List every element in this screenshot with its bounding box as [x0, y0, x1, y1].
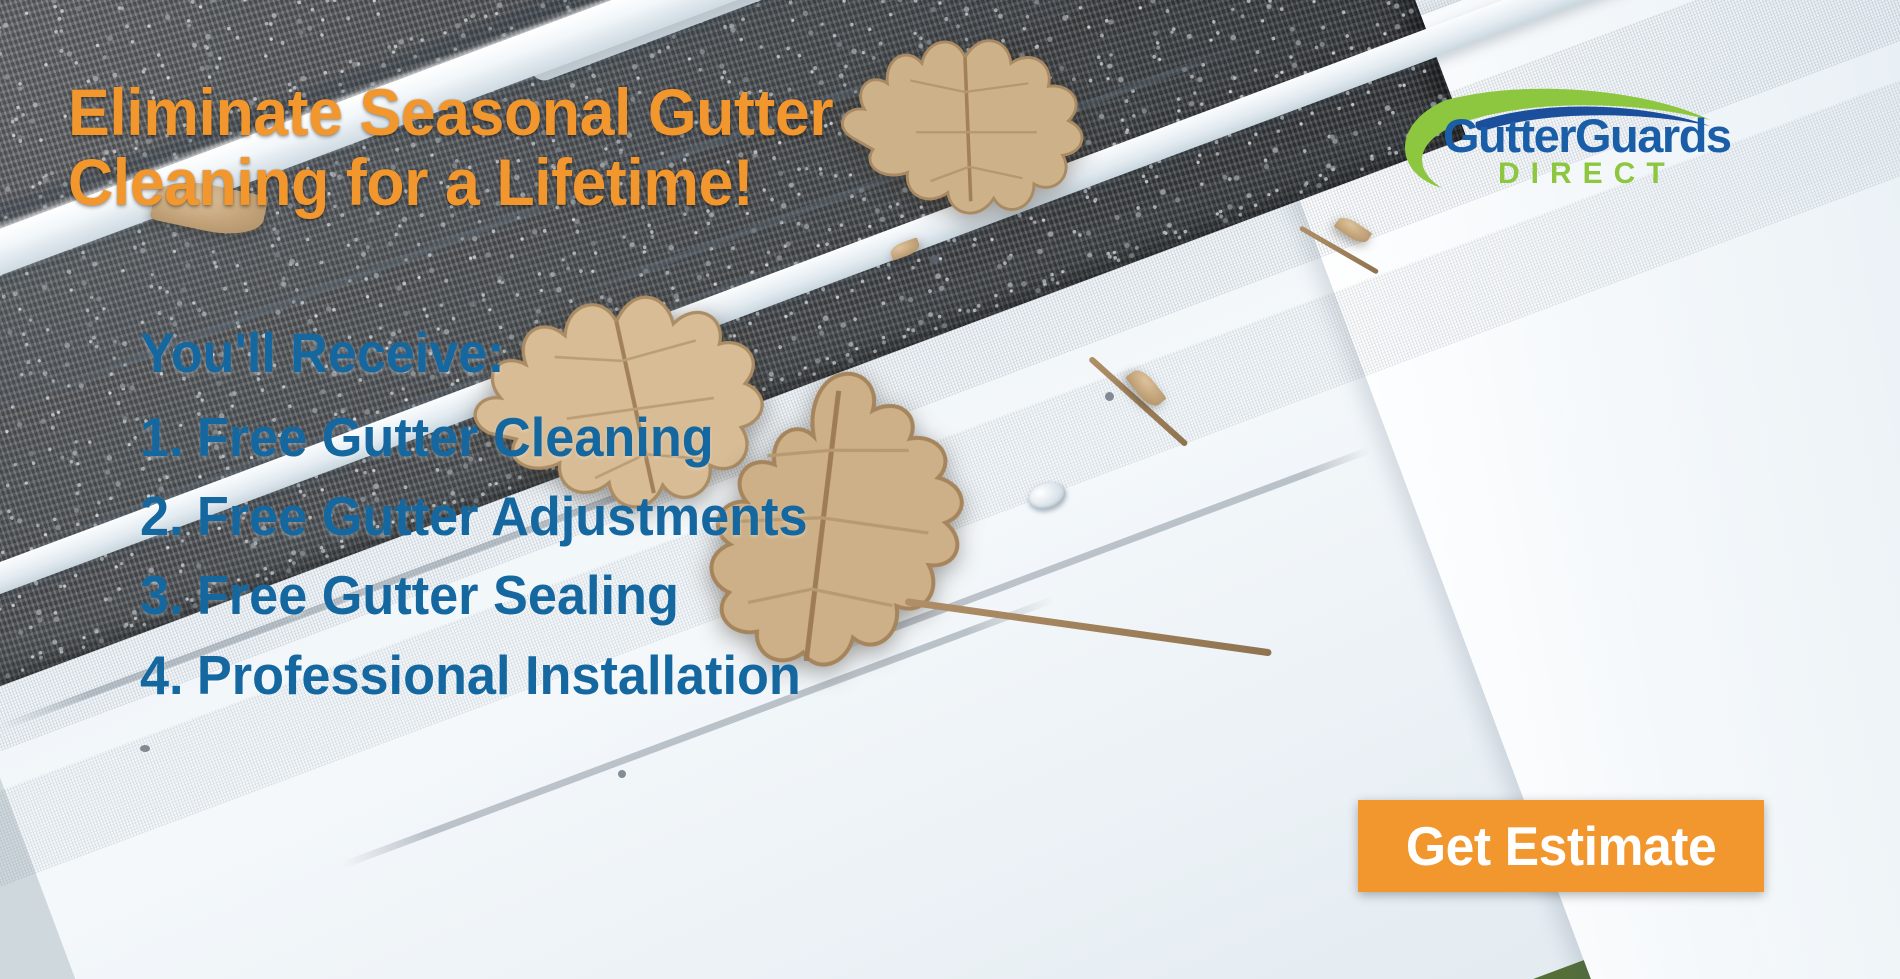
list-item-label: Free Gutter Cleaning: [197, 398, 714, 477]
surface-speck: [1105, 392, 1114, 401]
list-item: 3. Free Gutter Sealing: [140, 556, 929, 635]
list-item-number: 4.: [140, 636, 184, 715]
brand-logo[interactable]: GutterGuards DIRECT: [1380, 86, 1760, 196]
list-item-number: 2.: [140, 477, 184, 556]
surface-speck: [618, 770, 626, 778]
get-estimate-button[interactable]: Get Estimate: [1358, 800, 1764, 892]
advertisement-banner: Eliminate Seasonal Gutter Cleaning for a…: [0, 0, 1900, 979]
list-item: 4. Professional Installation: [140, 636, 929, 715]
logo-word-guards: Guards: [1575, 109, 1731, 162]
subheading: You'll Receive:: [140, 325, 505, 381]
list-item: 1. Free Gutter Cleaning: [140, 398, 929, 477]
surface-speck: [140, 745, 150, 752]
benefits-list: 1. Free Gutter Cleaning 2. Free Gutter A…: [140, 398, 929, 715]
list-item-label: Free Gutter Adjustments: [197, 477, 808, 556]
list-item: 2. Free Gutter Adjustments: [140, 477, 929, 556]
logo-subtitle: DIRECT: [1498, 159, 1676, 189]
get-estimate-label: Get Estimate: [1406, 819, 1716, 874]
list-item-label: Free Gutter Sealing: [197, 556, 679, 635]
headline: Eliminate Seasonal Gutter Cleaning for a…: [68, 78, 923, 218]
logo-word-gutter: Gutter: [1443, 109, 1575, 162]
logo-wordmark: GutterGuards: [1443, 112, 1731, 159]
list-item-number: 3.: [140, 556, 184, 635]
list-item-number: 1.: [140, 398, 184, 477]
list-item-label: Professional Installation: [197, 636, 801, 715]
surface-speck: [930, 255, 939, 264]
